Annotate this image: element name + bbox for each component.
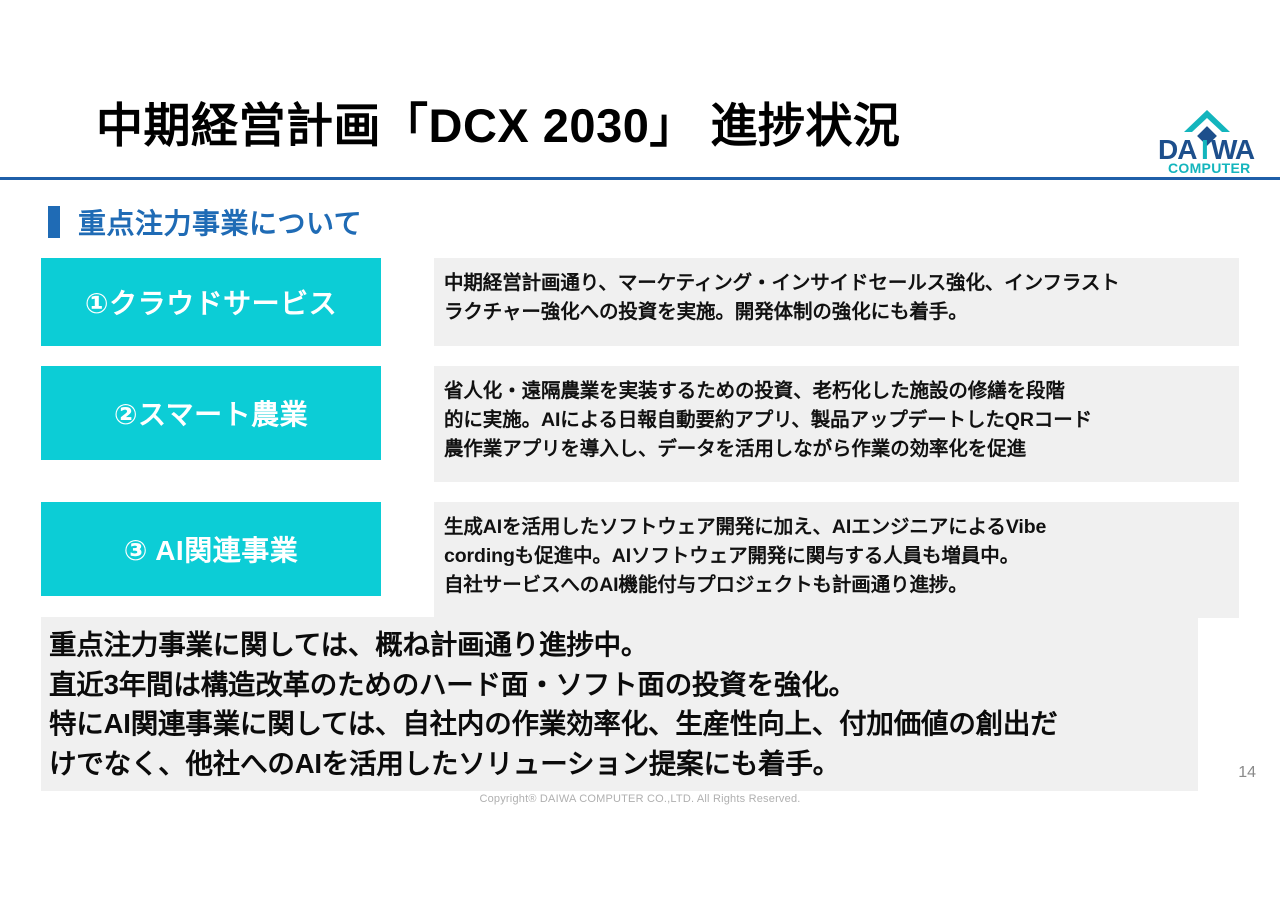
business-description-ai-business: 生成AIを活用したソフトウェア開発に加え、AIエンジニアによるVibe cord… bbox=[434, 502, 1239, 618]
business-label-smart-agriculture: ②スマート農業 bbox=[41, 366, 381, 460]
description-line: 生成AIを活用したソフトウェア開発に加え、AIエンジニアによるVibe bbox=[444, 513, 1225, 542]
daiwa-computer-logo: DA I WA COMPUTER bbox=[1154, 104, 1264, 176]
description-line: 省人化・遠隔農業を実装するための投資、老朽化した施設の修繕を段階 bbox=[444, 377, 1225, 406]
svg-text:COMPUTER: COMPUTER bbox=[1168, 160, 1251, 176]
focus-business-row: ①クラウドサービス 中期経営計画通り、マーケティング・インサイドセールス強化、イ… bbox=[41, 258, 1239, 346]
page-number: 14 bbox=[1238, 764, 1256, 782]
page-title: 中期経営計画「DCX 2030」 進捗状況 bbox=[96, 100, 1096, 152]
summary-line: 直近3年間は構造改革のためのハード面・ソフト面の投資を強化。 bbox=[49, 665, 1188, 705]
section-marker-bar bbox=[48, 206, 60, 238]
summary-line: けでなく、他社へのAIを活用したソリューション提案にも着手。 bbox=[49, 744, 1188, 784]
focus-business-row: ③ AI関連事業 生成AIを活用したソフトウェア開発に加え、AIエンジニアによる… bbox=[41, 502, 1239, 618]
business-description-cloud-service: 中期経営計画通り、マーケティング・インサイドセールス強化、インフラスト ラクチャ… bbox=[434, 258, 1239, 346]
business-description-smart-agriculture: 省人化・遠隔農業を実装するための投資、老朽化した施設の修繕を段階 的に実施。AI… bbox=[434, 366, 1239, 482]
description-line: ラクチャー強化への投資を実施。開発体制の強化にも着手。 bbox=[444, 298, 1225, 327]
summary-line: 重点注力事業に関しては、概ね計画通り進捗中。 bbox=[49, 625, 1188, 665]
summary-line: 特にAI関連事業に関しては、自社内の作業効率化、生産性向上、付加価値の創出だ bbox=[49, 704, 1188, 744]
description-line: 中期経営計画通り、マーケティング・インサイドセールス強化、インフラスト bbox=[444, 269, 1225, 298]
business-label-cloud-service: ①クラウドサービス bbox=[41, 258, 381, 346]
description-line: 自社サービスへのAI機能付与プロジェクトも計画通り進捗。 bbox=[444, 571, 1225, 600]
section-heading: 重点注力事業について bbox=[48, 202, 362, 242]
description-line: cordingも促進中。AIソフトウェア開発に関与する人員も増員中。 bbox=[444, 542, 1225, 571]
section-heading-label: 重点注力事業について bbox=[78, 202, 362, 242]
description-line: 的に実施。AIによる日報自動要約アプリ、製品アップデートしたQRコード bbox=[444, 406, 1225, 435]
focus-business-row: ②スマート農業 省人化・遠隔農業を実装するための投資、老朽化した施設の修繕を段階… bbox=[41, 366, 1239, 482]
summary-box: 重点注力事業に関しては、概ね計画通り進捗中。 直近3年間は構造改革のためのハード… bbox=[41, 617, 1198, 791]
focus-business-list: ①クラウドサービス 中期経営計画通り、マーケティング・インサイドセールス強化、イ… bbox=[41, 258, 1239, 638]
description-line: 農作業アプリを導入し、データを活用しながら作業の効率化を促進 bbox=[444, 435, 1225, 464]
copyright-notice: Copyright® DAIWA COMPUTER CO.,LTD. All R… bbox=[0, 793, 1280, 805]
business-label-ai-business: ③ AI関連事業 bbox=[41, 502, 381, 596]
slide-canvas: 中期経営計画「DCX 2030」 進捗状況 DA I WA COMPUTER 重… bbox=[0, 0, 1280, 904]
header-divider bbox=[0, 177, 1280, 180]
